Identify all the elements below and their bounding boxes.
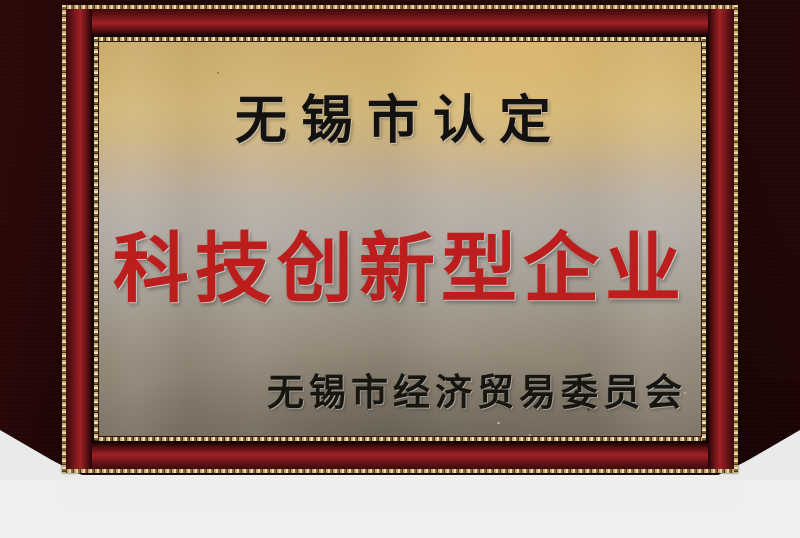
frame-wood-left-stile [66,9,92,469]
plaque-line-issuer: 无锡市经济贸易委员会 [267,362,687,416]
picture-frame: 无锡市认定 科技创新型企业 无锡市经济贸易委员会 [62,5,738,473]
frame-wood-bottom-rail [66,443,734,469]
frame-wood-right-stile [708,9,734,469]
frame-wood-top-rail [66,9,734,35]
plaque-face: 无锡市认定 科技创新型企业 无锡市经济贸易委员会 [99,42,701,436]
plaque-line-title: 无锡市认定 [99,78,701,153]
plaque-inscription: 无锡市认定 科技创新型企业 无锡市经济贸易委员会 [99,42,701,436]
plaque-line-award-designation: 科技创新型企业 [99,207,701,317]
plaque-photo-stage: 无锡市认定 科技创新型企业 无锡市经济贸易委员会 [0,0,800,538]
